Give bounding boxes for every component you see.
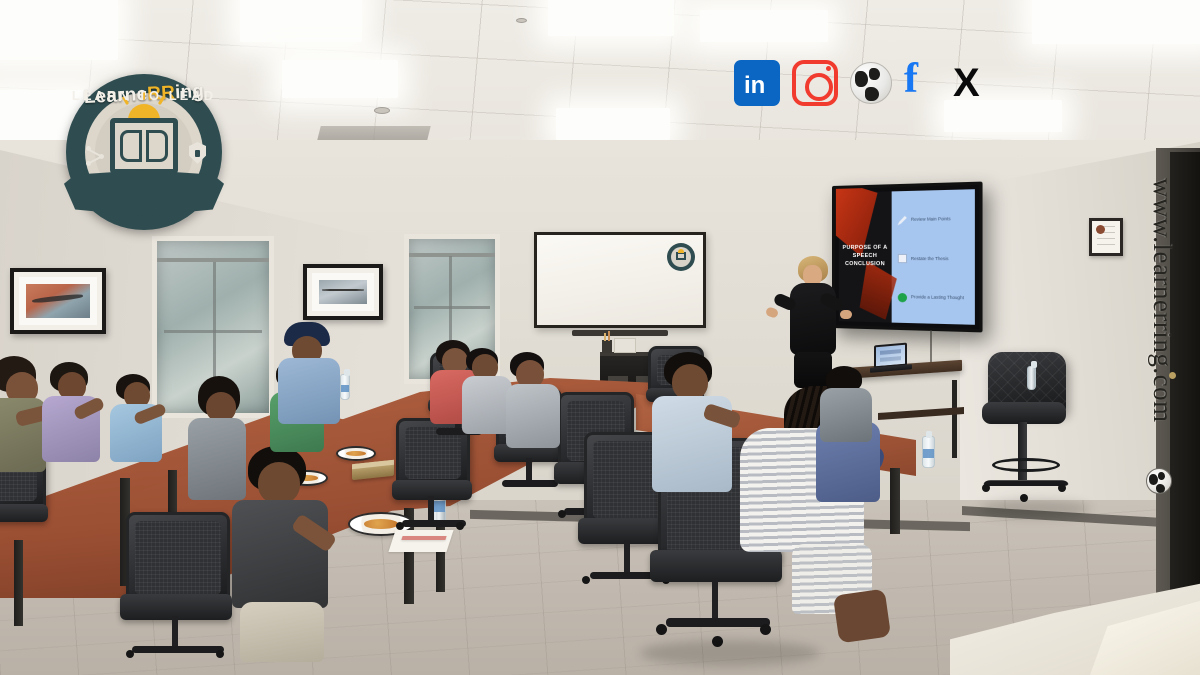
student-torso: [506, 384, 560, 448]
whiteboard-logo-icon: [667, 243, 695, 271]
globe-landmass: [855, 71, 868, 87]
slide-bullet: Provide a Lasting Thought: [898, 293, 970, 304]
student-torso: [278, 358, 340, 424]
framed-helicopter-photo: [10, 268, 106, 334]
ceiling-light: [282, 60, 398, 98]
caster-wheel: [1058, 484, 1066, 492]
globe-watermark-icon: [1146, 468, 1172, 494]
water-bottle: [1027, 366, 1036, 390]
x-badge: X: [950, 61, 994, 105]
ceiling-light: [700, 10, 828, 42]
classroom-photo-scene: PURPOSE OF A SPEECH CONCLUSION Review Ma…: [0, 0, 1200, 675]
slide-bullet: Restate the Thesis: [898, 254, 970, 264]
pencil-icon: [898, 216, 907, 225]
tagline-banner: [64, 170, 224, 216]
caster-wheel: [582, 576, 590, 584]
caster-wheel: [456, 522, 464, 530]
slide-title-line-3: CONCLUSION: [845, 261, 885, 267]
instagram-lens-dot: [826, 66, 831, 71]
globe-icon[interactable]: [850, 62, 892, 104]
linkedin-label: in: [744, 74, 765, 98]
website-url-text: www.learnerring.com: [1147, 178, 1178, 423]
globe-landmass: [865, 87, 879, 101]
framed-osprey-photo: [303, 264, 383, 320]
chair-post: [624, 540, 630, 576]
pen-cup: [602, 340, 612, 353]
student-torso: [232, 500, 328, 608]
chair-base: [502, 480, 558, 487]
linkedin-badge: in: [734, 60, 780, 106]
open-book-icon: [120, 130, 168, 162]
student-torso: [820, 388, 872, 442]
floor-shadow: [980, 500, 1090, 518]
student: [820, 366, 878, 446]
slide-bullet-text: Restate the Thesis: [911, 257, 949, 262]
whiteboard: [534, 232, 706, 328]
table-leg: [890, 468, 900, 534]
ceiling-light: [556, 108, 670, 140]
document-icon: [898, 254, 907, 263]
student: [112, 374, 170, 470]
student-with-cap: [274, 322, 344, 432]
instagram-badge: [792, 60, 838, 106]
ceiling-light: [548, 0, 674, 36]
node-link: [89, 156, 100, 163]
presentation-slide: PURPOSE OF A SPEECH CONCLUSION Review Ma…: [839, 189, 975, 325]
podium-table-leg: [952, 380, 957, 458]
chair-base: [132, 646, 224, 653]
framed-certificate: [1089, 218, 1123, 256]
slide-title: PURPOSE OF A SPEECH CONCLUSION: [843, 245, 888, 269]
office-chair: [120, 512, 236, 672]
drafting-chair-seat: [982, 402, 1066, 424]
ceiling-light: [1032, 0, 1200, 44]
student: [48, 362, 110, 472]
caster-wheel: [126, 650, 134, 658]
student-leg-skin: [833, 589, 891, 644]
instagram-icon[interactable]: [792, 60, 838, 106]
student-head: [258, 462, 300, 504]
learnerring-logo-badge: LearneRRing LEARN TO LEAD: [66, 74, 222, 230]
chair-seat: [0, 504, 48, 522]
presenter-right-hand: [840, 310, 852, 319]
smoke-detector-icon: [374, 107, 390, 114]
facebook-badge: f: [904, 60, 938, 106]
globe-badge: [850, 62, 892, 104]
ceiling-light: [240, 0, 362, 42]
slide-bullet-text: Provide a Lasting Thought: [911, 295, 964, 301]
globe-landmass: [1158, 472, 1165, 480]
chair-post: [172, 616, 178, 650]
chair-back: [126, 512, 230, 604]
globe-landmass: [1156, 484, 1165, 493]
osprey-aircraft-image: [319, 280, 367, 304]
book-left-page: [120, 130, 142, 162]
green-dot-icon: [898, 293, 907, 302]
tagline-text: LEARN TO LEAD: [66, 88, 222, 103]
student: [230, 446, 340, 666]
bottle-label: [923, 449, 934, 458]
student-torso: [462, 376, 512, 434]
tissue-box: [614, 338, 636, 353]
book-right-page: [146, 130, 168, 162]
x-twitter-icon[interactable]: X: [950, 61, 994, 105]
certificate-seal-icon: [1096, 225, 1105, 234]
slide-title-line-2: SPEECH: [853, 253, 877, 259]
globe-landmass: [869, 68, 880, 80]
facebook-label: f: [904, 60, 918, 100]
globe-landmass: [1149, 474, 1158, 485]
student: [652, 352, 744, 512]
wall-mounted-tv: PURPOSE OF A SPEECH CONCLUSION Review Ma…: [832, 182, 983, 333]
caster-wheel: [982, 484, 990, 492]
slide-bullet: Review Main Points: [898, 215, 970, 225]
window-mullion: [164, 330, 263, 333]
slide-bullet-text: Review Main Points: [911, 217, 951, 222]
drafting-chair-footring: [992, 458, 1060, 472]
ceiling-light: [0, 0, 118, 60]
social-icon-bar: in f X: [734, 60, 994, 106]
window-mullion: [414, 306, 490, 309]
network-node-icon: [86, 146, 104, 166]
facebook-icon[interactable]: f: [904, 60, 938, 106]
x-label: X: [953, 63, 980, 103]
caster-wheel: [396, 522, 404, 530]
linkedin-icon[interactable]: in: [734, 60, 780, 106]
student-legs: [240, 602, 324, 662]
whiteboard-marker-tray: [572, 330, 668, 336]
water-bottle: [922, 436, 935, 468]
caster-wheel: [656, 624, 667, 635]
chair-mesh: [135, 521, 221, 595]
caster-wheel: [216, 650, 224, 658]
slide-title-line-1: PURPOSE OF A: [843, 245, 888, 251]
helicopter-image: [26, 284, 90, 318]
food-plate: [336, 446, 376, 461]
student: [506, 352, 564, 450]
drafting-chair-base: [983, 480, 1070, 486]
window-rail: [409, 253, 495, 257]
caster-wheel: [558, 510, 566, 518]
floor-shadow: [640, 640, 820, 666]
smoke-detector-icon: [516, 18, 527, 23]
student-head: [672, 364, 708, 400]
slide-bullets-panel: Review Main Points Restate the Thesis Pr…: [891, 189, 974, 325]
chair-post: [712, 578, 718, 622]
node-link: [89, 149, 100, 156]
